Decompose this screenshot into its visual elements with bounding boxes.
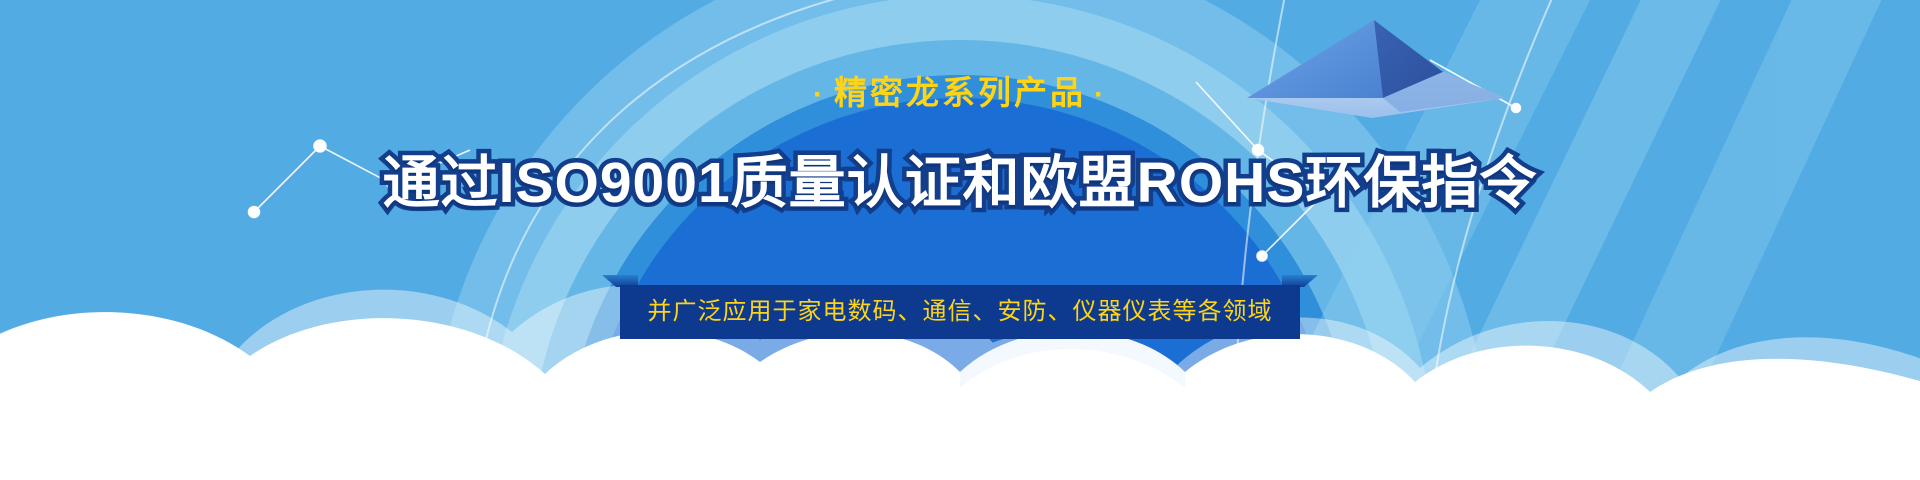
banner-background	[0, 0, 1920, 480]
promo-banner: ·精密龙系列产品· 通过ISO9001质量认证和欧盟ROHS环保指令 并广泛应用…	[0, 0, 1920, 480]
